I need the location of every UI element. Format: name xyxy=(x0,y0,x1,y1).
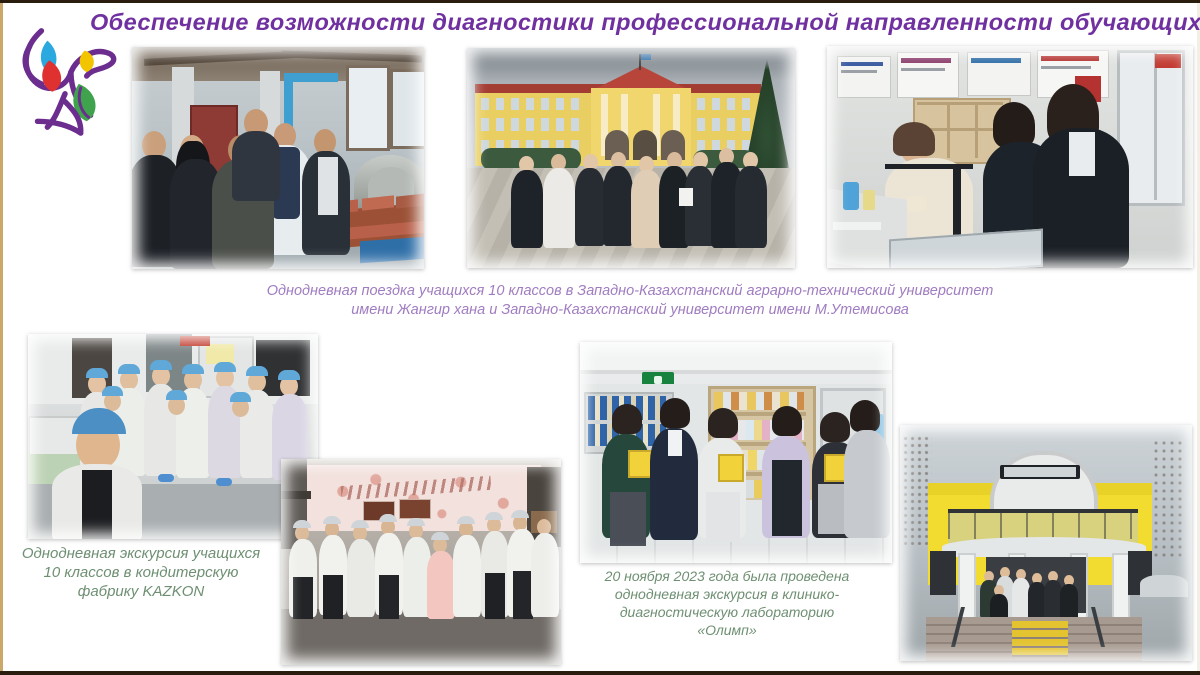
caption-olymp-line2: однодневная экскурсия в клинико- xyxy=(562,586,892,604)
caption-university-trip: Однодневная поездка учащихся 10 классов … xyxy=(190,282,1070,319)
photo-factory-selfie xyxy=(28,334,318,539)
caption-university-line2: имени Жангир хана и Западно-Казахстански… xyxy=(190,301,1070,320)
caption-olymp-excursion: 20 ноября 2023 года была проведена однод… xyxy=(562,568,892,640)
presentation-slide: Обеспечение возможности диагностики проф… xyxy=(0,0,1200,675)
caption-kazkon-line3: фабрику KAZKON xyxy=(0,582,282,601)
photo-olymp-building xyxy=(900,425,1192,661)
caption-kazkon-line2: 10 классов в кондитерскую xyxy=(0,563,282,582)
photo-factory-group xyxy=(281,459,561,665)
photo-products xyxy=(580,342,892,563)
caption-olymp-line1: 20 ноября 2023 года была проведена xyxy=(562,568,892,586)
caption-olymp-line4: «Олимп» xyxy=(562,622,892,640)
school-emblem-logo xyxy=(8,17,126,141)
caption-olymp-line3: диагностическую лабораторию xyxy=(562,604,892,622)
caption-kazkon-line1: Однодневная экскурсия учащихся xyxy=(0,544,282,563)
photo-university-building xyxy=(467,48,795,268)
page-title: Обеспечение возможности диагностики проф… xyxy=(90,9,1190,36)
caption-kazkon-excursion: Однодневная экскурсия учащихся 10 классо… xyxy=(0,544,282,602)
photo-laboratory xyxy=(827,46,1193,268)
caption-university-line1: Однодневная поездка учащихся 10 классов … xyxy=(190,282,1070,301)
photo-workshop xyxy=(132,47,424,269)
